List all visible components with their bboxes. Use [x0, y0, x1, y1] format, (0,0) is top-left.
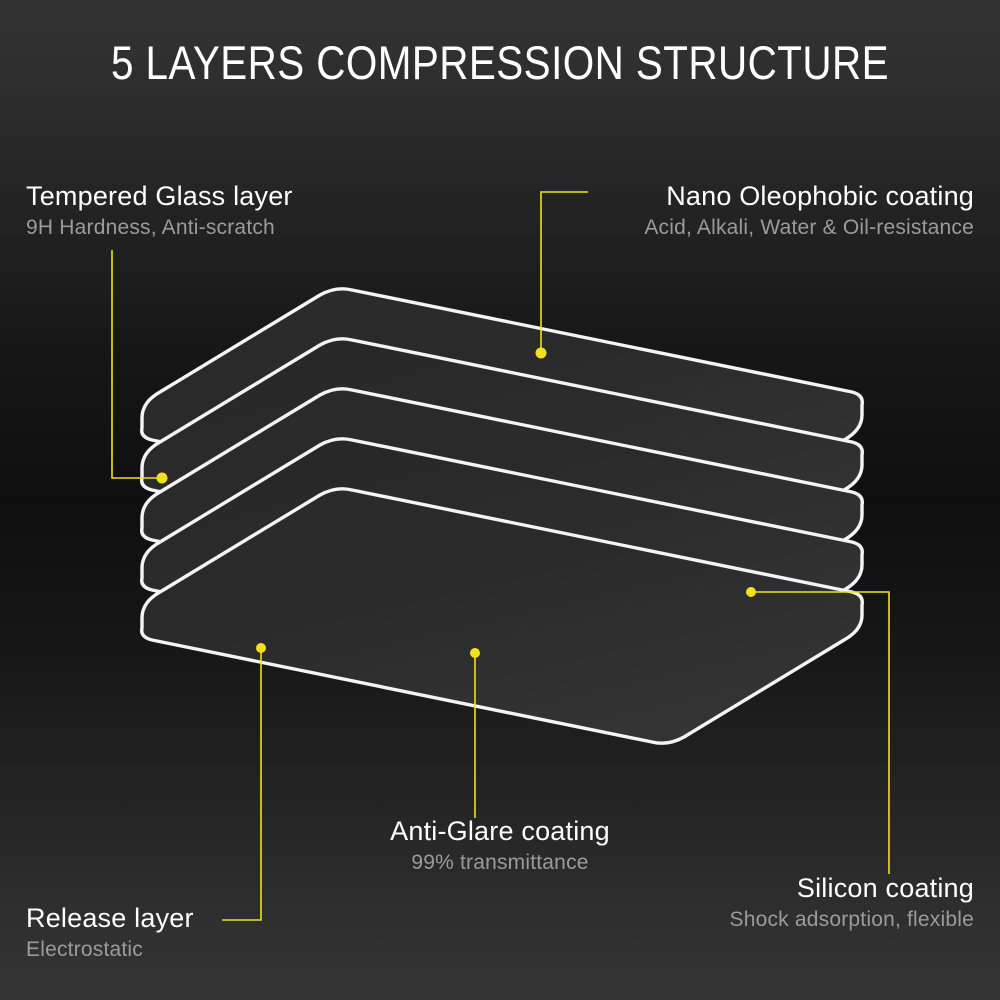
marker-dot-anti-glare[interactable]	[470, 648, 480, 658]
callout-subtitle-nano-oleophobic: Acid, Alkali, Water & Oil-resistance	[644, 213, 974, 243]
leader-line-release	[222, 648, 261, 920]
callout-nano-oleophobic: Nano Oleophobic coating Acid, Alkali, Wa…	[644, 180, 974, 243]
marker-dot-tempered-glass[interactable]	[157, 473, 168, 484]
callout-title-anti-glare: Anti-Glare coating	[0, 815, 1000, 848]
callout-subtitle-tempered-glass: 9H Hardness, Anti-scratch	[26, 213, 293, 243]
callout-release: Release layer Electrostatic	[26, 902, 194, 965]
callout-title-silicon: Silicon coating	[729, 872, 974, 905]
marker-dot-nano-oleophobic[interactable]	[536, 348, 547, 359]
callout-tempered-glass: Tempered Glass layer 9H Hardness, Anti-s…	[26, 180, 293, 243]
callout-title-tempered-glass: Tempered Glass layer	[26, 180, 293, 213]
callout-subtitle-release: Electrostatic	[26, 935, 194, 965]
callout-anti-glare: Anti-Glare coating 99% transmittance	[0, 815, 1000, 878]
marker-dot-release[interactable]	[256, 643, 266, 653]
callout-subtitle-silicon: Shock adsorption, flexible	[729, 905, 974, 935]
callout-title-release: Release layer	[26, 902, 194, 935]
layer-structure-infographic: 5 LAYERS COMPRESSION STRUCTURE	[0, 0, 1000, 1000]
marker-dot-silicon[interactable]	[746, 587, 756, 597]
callout-title-nano-oleophobic: Nano Oleophobic coating	[644, 180, 974, 213]
callout-silicon: Silicon coating Shock adsorption, flexib…	[729, 872, 974, 935]
